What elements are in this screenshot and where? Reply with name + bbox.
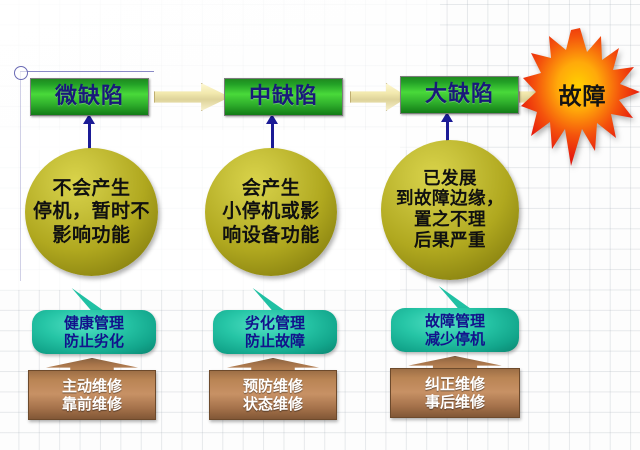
diagram-canvas: 微缺陷 中缺陷 大缺陷 故障 — [0, 0, 640, 450]
stage-box-label: 中缺陷 — [249, 86, 318, 108]
stage-box-label: 微缺陷 — [55, 86, 124, 108]
maintenance-box-2[interactable]: 预防维修 状态维修 — [209, 370, 337, 420]
stage-box-micro-defect[interactable]: 微缺陷 — [30, 78, 149, 116]
selection-handle-icon[interactable] — [14, 66, 28, 80]
description-text: 不会产生 停机，暂时不 影响功能 — [33, 177, 150, 247]
management-callout-1[interactable]: 健康管理 防止劣化 — [32, 298, 156, 354]
guide-line-vertical — [20, 71, 21, 281]
maintenance-text: 预防维修 状态维修 — [243, 377, 303, 414]
management-text: 健康管理 防止劣化 — [64, 314, 124, 351]
description-ellipse-1[interactable]: 不会产生 停机，暂时不 影响功能 — [25, 148, 158, 276]
starburst-shape-icon — [521, 26, 640, 166]
maintenance-box-1[interactable]: 主动维修 靠前维修 — [28, 370, 156, 420]
management-text: 故障管理 减少停机 — [425, 312, 485, 349]
description-text: 已发展 到故障边缘， 置之不理 后果严重 — [396, 169, 504, 252]
description-ellipse-3[interactable]: 已发展 到故障边缘， 置之不理 后果严重 — [381, 140, 519, 280]
link-arrow-1-icon — [83, 114, 95, 152]
description-text: 会产生 小停机或影 响设备功能 — [222, 177, 320, 247]
maintenance-box-3[interactable]: 纠正维修 事后维修 — [390, 368, 520, 418]
link-arrow-2-icon — [266, 114, 278, 152]
stage-box-major-defect[interactable]: 大缺陷 — [400, 76, 519, 114]
description-ellipse-2[interactable]: 会产生 小停机或影 响设备功能 — [205, 148, 337, 276]
guide-line-horizontal — [20, 71, 154, 72]
stage-box-medium-defect[interactable]: 中缺陷 — [224, 78, 343, 116]
maintenance-text: 纠正维修 事后维修 — [425, 375, 485, 412]
flow-arrow-1-icon — [154, 83, 230, 111]
management-callout-3[interactable]: 故障管理 减少停机 — [391, 296, 519, 352]
management-text: 劣化管理 防止故障 — [245, 314, 305, 351]
maintenance-text: 主动维修 靠前维修 — [62, 377, 122, 414]
background-wash — [0, 0, 440, 150]
stage-box-label: 大缺陷 — [425, 84, 494, 106]
outcome-starburst[interactable]: 故障 — [521, 26, 640, 166]
management-callout-2[interactable]: 劣化管理 防止故障 — [213, 298, 337, 354]
